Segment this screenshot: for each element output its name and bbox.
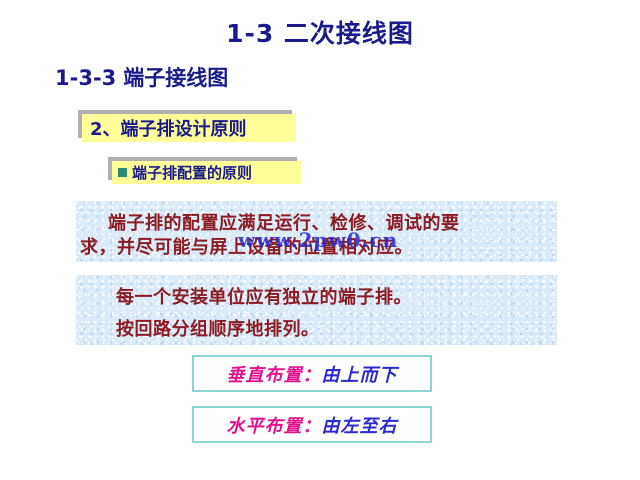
paragraph-line: 每一个安装单位应有独立的端子排。 [116,283,412,309]
vertical-layout-box: 垂直布置： 由上而下 [192,355,432,392]
horizontal-layout-label: 水平布置： [227,412,322,438]
page-title: 1-3 二次接线图 [0,14,640,50]
section-heading-label: 端子接线图 [116,66,228,90]
arrangement-principle-box: 端子排配置的原则 [112,161,301,184]
horizontal-layout-box: 水平布置： 由左至右 [192,406,432,443]
vertical-layout-label: 垂直布置： [227,361,322,387]
paragraph-line: 按回路分组顺序地排列。 [116,315,320,341]
section-number: 1-3-3 [55,66,116,90]
horizontal-layout-value: 由左至右 [322,412,398,438]
paragraph-line: 端子排的配置应满足运行、检修、调试的要 [108,209,460,235]
design-principle-label: 2、端子排设计原则 [90,115,247,141]
paragraph-line: 求，并尽可能与屏上设备的位置相对应。 [80,233,413,259]
arrangement-principle-label: 端子排配置的原则 [127,162,252,183]
vertical-layout-value: 由上而下 [322,361,398,387]
paragraph-block-1: 端子排的配置应满足运行、检修、调试的要 求，并尽可能与屏上设备的位置相对应。 [76,201,557,262]
presentation-slide: 1-3 二次接线图 1-3-3端子接线图 2、端子排设计原则 端子排配置的原则 … [0,0,640,480]
paragraph-block-2: 每一个安装单位应有独立的端子排。 按回路分组顺序地排列。 [76,275,557,345]
square-bullet-icon [118,168,127,177]
section-heading: 1-3-3端子接线图 [55,62,228,92]
design-principle-box: 2、端子排设计原则 [82,114,296,142]
